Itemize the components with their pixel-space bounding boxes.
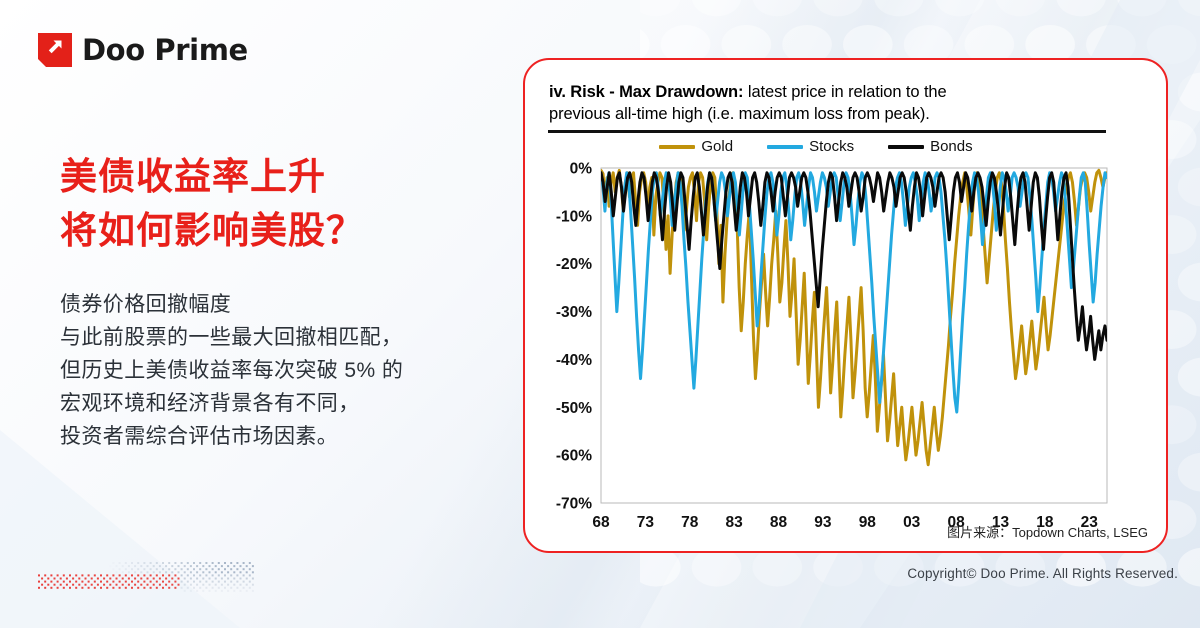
legend-item-gold: Gold <box>659 138 733 155</box>
legend-label-gold: Gold <box>701 138 733 155</box>
chart-title-bold: iv. Risk - Max Drawdown: <box>549 83 743 101</box>
svg-text:88: 88 <box>770 514 788 531</box>
body-line-2: 与此前股票的一些最大回撤相匹配， <box>60 321 490 354</box>
svg-text:78: 78 <box>681 514 699 531</box>
svg-text:-70%: -70% <box>556 496 592 513</box>
svg-text:68: 68 <box>592 514 610 531</box>
legend-swatch-gold <box>659 145 695 149</box>
chart-source-text: 图片来源：Topdown Charts, LSEG <box>947 522 1148 541</box>
body-line-5: 投资者需综合评估市场因素。 <box>60 420 490 453</box>
chart-title-line-2: previous all-time high (i.e. maximum los… <box>549 105 930 124</box>
copyright-text: Copyright© Doo Prime. All Rights Reserve… <box>907 566 1178 581</box>
chart-title-line-1: iv. Risk - Max Drawdown: latest price in… <box>549 83 947 102</box>
svg-text:03: 03 <box>903 514 921 531</box>
body-line-3: 但历史上美债收益率每次突破 5% 的 <box>60 354 490 387</box>
legend-item-stocks: Stocks <box>767 138 854 155</box>
svg-text:-60%: -60% <box>556 448 592 465</box>
svg-text:-20%: -20% <box>556 256 592 273</box>
svg-text:-10%: -10% <box>556 208 592 225</box>
legend-swatch-bonds <box>888 145 924 149</box>
svg-text:0%: 0% <box>570 161 593 178</box>
svg-text:-30%: -30% <box>556 304 592 321</box>
legend-item-bonds: Bonds <box>888 138 973 155</box>
doo-prime-mark-icon <box>38 33 72 67</box>
chart-plot-area: 0%-10%-20%-30%-40%-50%-60%-70%6873788388… <box>525 160 1145 555</box>
headline-line-2: 将如何影响美股？ <box>60 204 490 258</box>
chart-title-rest: latest price in relation to the <box>743 83 946 101</box>
chart-title-rule <box>548 130 1106 133</box>
brand-logo-text: Doo Prime <box>82 33 248 67</box>
slide-background: Doo Prime 美债收益率上升 将如何影响美股？ 债券价格回撤幅度 与此前股… <box>0 0 1200 628</box>
headline: 美债收益率上升 将如何影响美股？ <box>60 150 490 258</box>
chart: iv. Risk - Max Drawdown: latest price in… <box>525 60 1170 555</box>
brand-logo[interactable]: Doo Prime <box>38 33 248 67</box>
svg-text:93: 93 <box>814 514 832 531</box>
body-copy: 债券价格回撤幅度 与此前股票的一些最大回撤相匹配， 但历史上美债收益率每次突破 … <box>60 288 490 453</box>
body-line-4: 宏观环境和经济背景各有不同， <box>60 387 490 420</box>
legend-label-bonds: Bonds <box>930 138 973 155</box>
legend-swatch-stocks <box>767 145 803 149</box>
legend-label-stocks: Stocks <box>809 138 854 155</box>
svg-text:-50%: -50% <box>556 400 592 417</box>
dotted-bar-decoration <box>38 558 258 594</box>
chart-card: iv. Risk - Max Drawdown: latest price in… <box>523 58 1168 553</box>
headline-line-1: 美债收益率上升 <box>60 150 490 204</box>
svg-text:83: 83 <box>726 514 744 531</box>
svg-text:98: 98 <box>859 514 877 531</box>
svg-text:73: 73 <box>637 514 655 531</box>
svg-text:-40%: -40% <box>556 352 592 369</box>
chart-legend: GoldStocksBonds <box>525 138 1107 155</box>
body-line-1: 债券价格回撤幅度 <box>60 288 490 321</box>
